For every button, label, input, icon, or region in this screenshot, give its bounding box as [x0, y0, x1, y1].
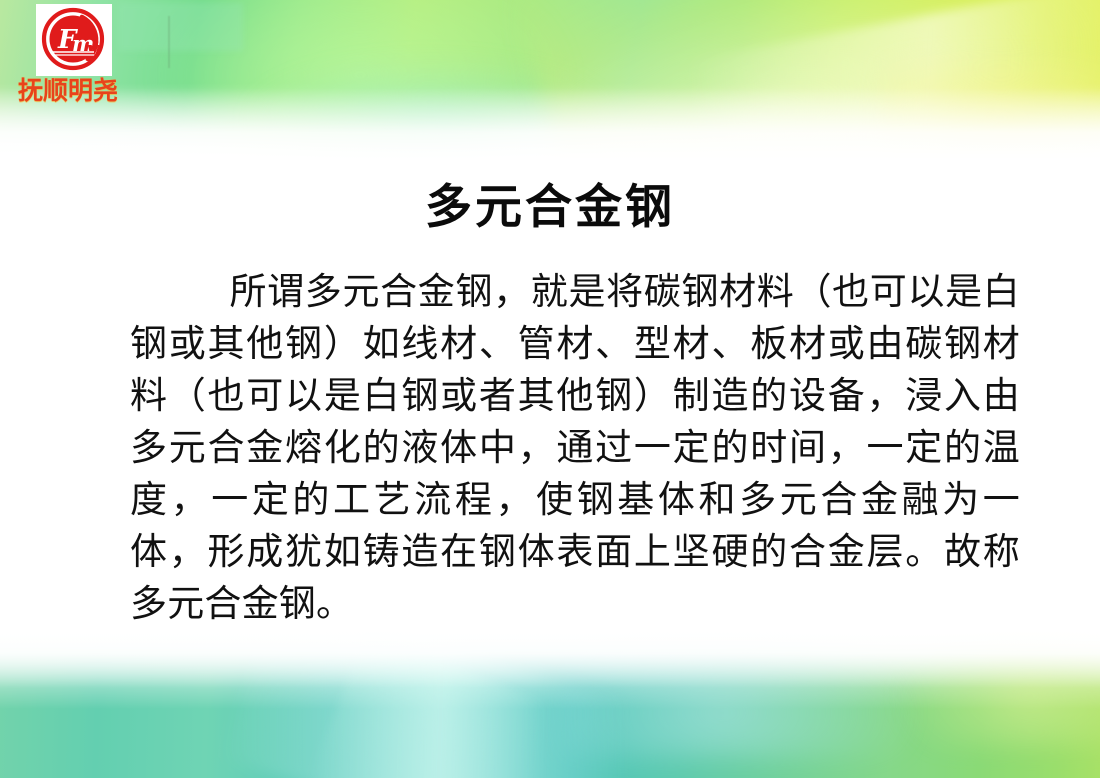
fmy-monogram-icon: F m y: [36, 4, 112, 76]
slide-canvas: F m y 抚顺明尧 多元合金钢 所谓多元合金钢，就是将碳钢材料（也可以是白钢或…: [0, 0, 1100, 778]
body-paragraph: 所谓多元合金钢，就是将碳钢材料（也可以是白钢或其他钢）如线材、管材、型材、板材或…: [130, 266, 1020, 630]
slide-content: 多元合金钢 所谓多元合金钢，就是将碳钢材料（也可以是白钢或其他钢）如线材、管材、…: [0, 0, 1100, 778]
logo-caption: 抚顺明尧: [18, 78, 134, 104]
company-logo[interactable]: F m y 抚顺明尧: [14, 4, 134, 104]
page-title: 多元合金钢: [0, 168, 1100, 237]
body-text-block: 所谓多元合金钢，就是将碳钢材料（也可以是白钢或其他钢）如线材、管材、型材、板材或…: [130, 266, 1020, 630]
logo-mark-icon: F m y: [36, 4, 112, 76]
svg-text:y: y: [85, 36, 100, 61]
